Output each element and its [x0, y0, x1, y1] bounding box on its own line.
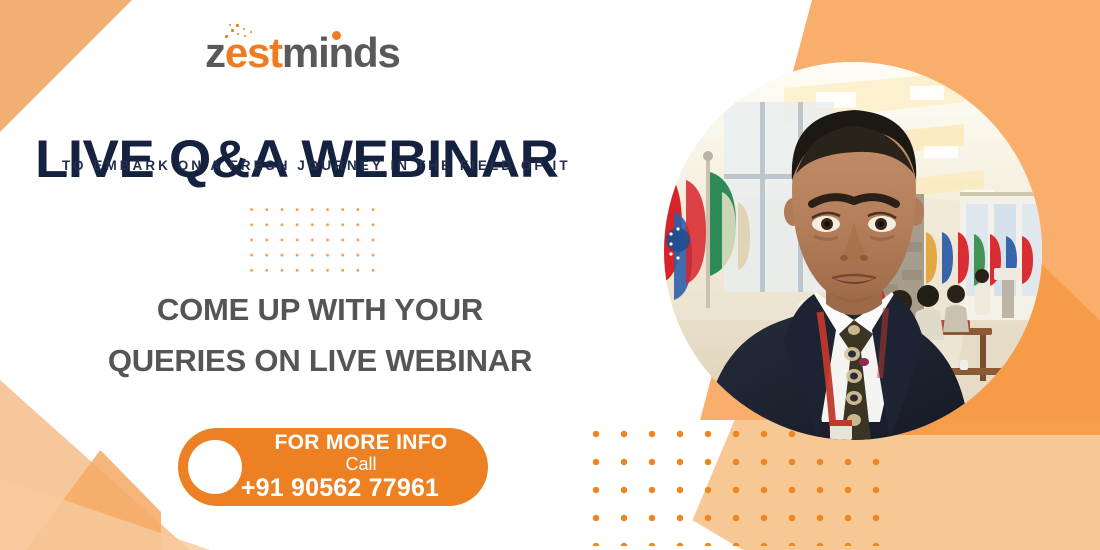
webinar-banner: zestminds LIVE Q&A WEBINAR TO EMBARK ON … — [0, 0, 1100, 550]
cta-call-label: Call — [240, 454, 482, 475]
logo-sparkle-icon — [223, 23, 257, 41]
promo-message-line-2: QUERIES ON LIVE WEBINAR — [40, 335, 600, 386]
logo-text-z: z — [205, 29, 225, 76]
page-subtitle: TO EMBARK ON A FRESH JOURNEY IN THE FIEL… — [62, 158, 571, 173]
contact-cta-button[interactable]: FOR MORE INFO Call +91 90562 77961 — [178, 428, 488, 506]
brand-logo[interactable]: zestminds — [205, 32, 400, 74]
promo-message: COME UP WITH YOUR QUERIES ON LIVE WEBINA… — [40, 284, 600, 386]
cta-phone-number[interactable]: +91 90562 77961 — [198, 475, 482, 503]
cta-title: FOR MORE INFO — [240, 432, 482, 455]
speaker-photo — [664, 62, 1042, 440]
promo-message-line-1: COME UP WITH YOUR — [40, 284, 600, 335]
logo-dot-icon — [332, 31, 341, 40]
cta-text-block: FOR MORE INFO Call +91 90562 77961 — [240, 432, 488, 503]
dot-grid-upper-decor — [244, 202, 384, 284]
top-left-triangle-decor — [0, 0, 132, 132]
